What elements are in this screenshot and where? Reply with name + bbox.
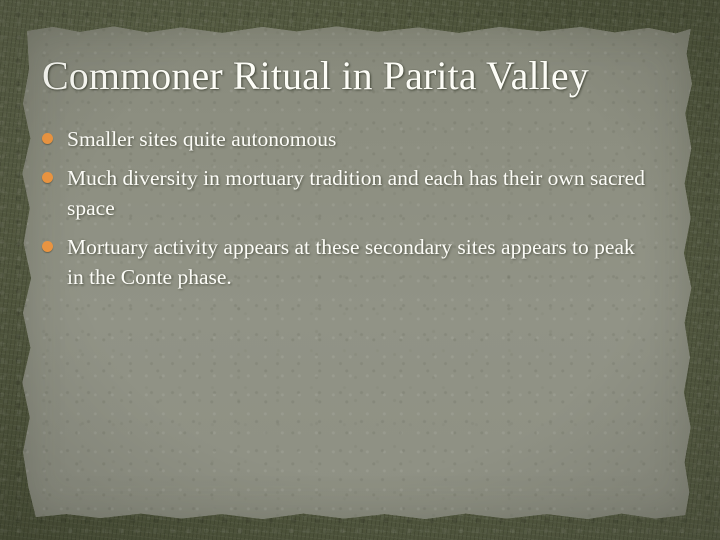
bullet-text-2: Much diversity in mortuary tradition and… xyxy=(67,163,650,223)
slide-title: Commoner Ritual in Parita Valley xyxy=(42,52,642,100)
bullet-item-2: Much diversity in mortuary tradition and… xyxy=(40,163,650,223)
presentation-slide: Commoner Ritual in Parita Valley Smaller… xyxy=(0,0,720,540)
bullet-item-1: Smaller sites quite autonomous xyxy=(40,124,650,154)
bullet-dot-icon xyxy=(42,133,53,144)
bullet-text-1: Smaller sites quite autonomous xyxy=(67,124,650,154)
bullet-dot-icon xyxy=(42,172,53,183)
slide-content: Commoner Ritual in Parita Valley Smaller… xyxy=(0,0,720,540)
slide-bullet-list: Smaller sites quite autonomous Much dive… xyxy=(40,124,650,301)
bullet-text-3: Mortuary activity appears at these secon… xyxy=(67,232,650,292)
bullet-item-3: Mortuary activity appears at these secon… xyxy=(40,232,650,292)
bullet-dot-icon xyxy=(42,241,53,252)
